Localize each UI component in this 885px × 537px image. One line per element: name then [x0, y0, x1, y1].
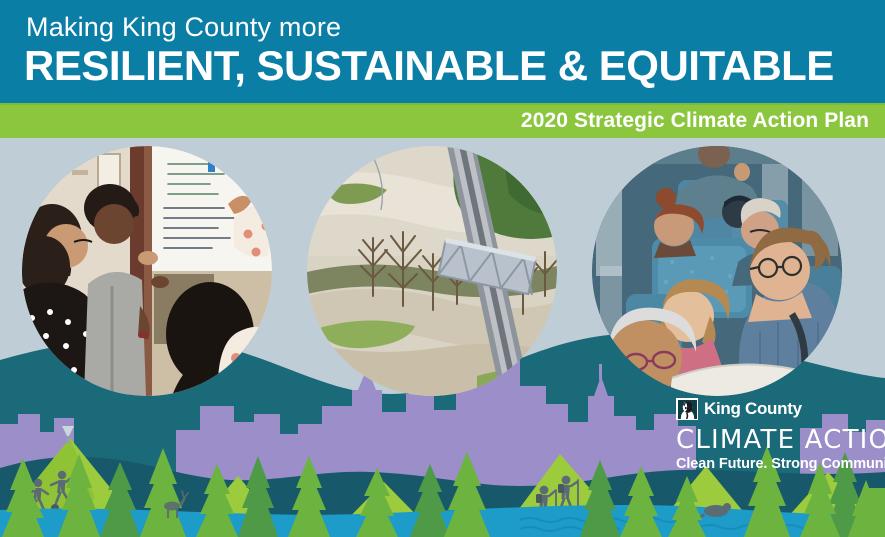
flooding-aerial-photo [307, 146, 557, 396]
climate-action-poster: Making King County more RESILIENT, SUSTA… [0, 0, 885, 537]
king-county-wordmark-row: King County [676, 398, 876, 420]
subtitle-band: 2020 Strategic Climate Action Plan [0, 103, 885, 138]
community-workshop-photo [22, 146, 272, 396]
header-kicker: Making King County more [26, 12, 341, 43]
climate-action-title: CLIMATE ACTION [676, 425, 876, 455]
scene-illustration: King County CLIMATE ACTION Clean Future.… [0, 138, 885, 537]
climate-action-tagline: Clean Future. Strong Communities. [676, 456, 876, 472]
transit-riders-photo [592, 146, 842, 396]
header-banner: Making King County more RESILIENT, SUSTA… [0, 0, 885, 103]
plan-subtitle: 2020 Strategic Climate Action Plan [521, 109, 869, 133]
king-county-name: King County [704, 399, 802, 419]
page-title: RESILIENT, SUSTAINABLE & EQUITABLE [24, 42, 834, 90]
band-divider [0, 103, 885, 105]
king-county-mlk-mark-icon [676, 398, 698, 420]
king-county-climate-action-logo: King County CLIMATE ACTION Clean Future.… [676, 398, 876, 478]
